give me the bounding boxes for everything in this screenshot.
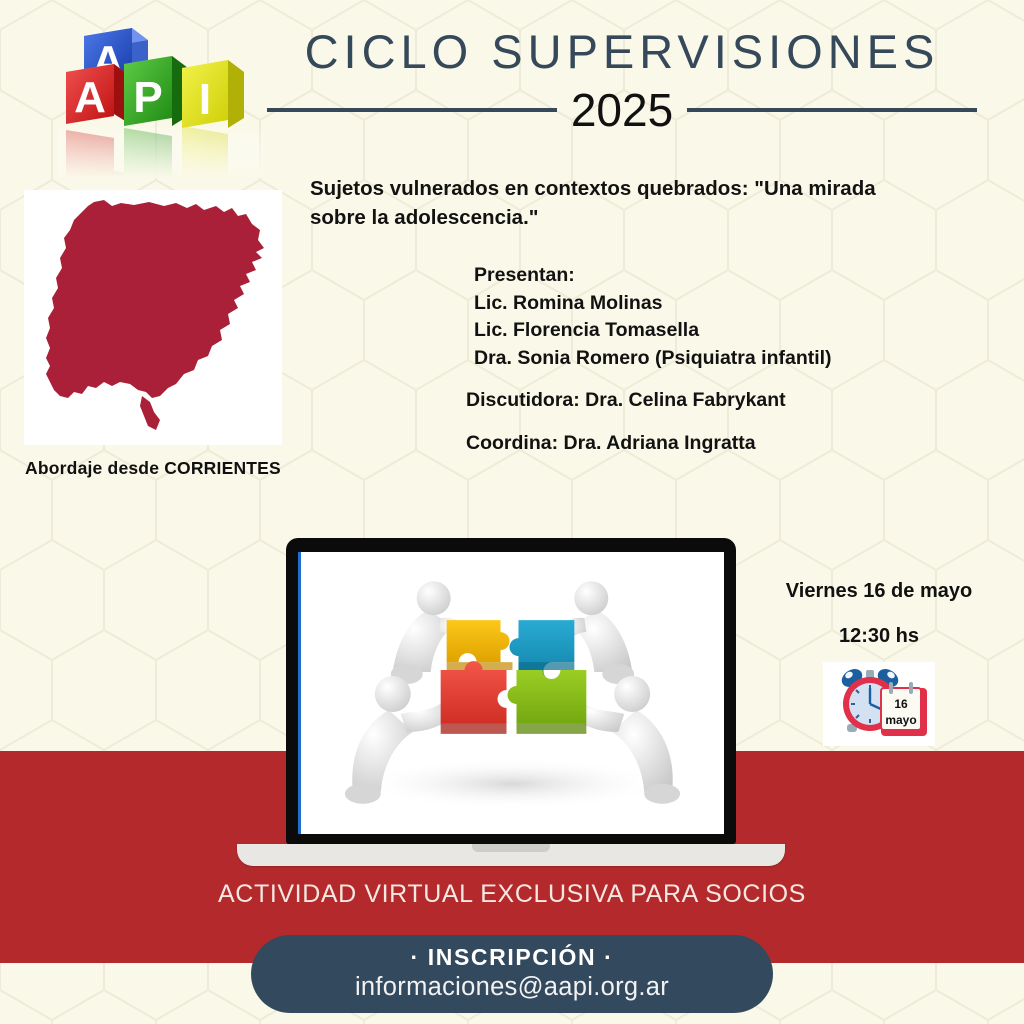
schedule-block: Viernes 16 de mayo 12:30 hs bbox=[744, 580, 1014, 746]
laptop-illustration bbox=[286, 538, 736, 866]
logo-cube-red: A bbox=[66, 64, 130, 124]
topic-title: Sujetos vulnerados en contextos quebrado… bbox=[310, 174, 910, 232]
map-caption: Abordaje desde CORRIENTES bbox=[24, 458, 282, 479]
credits-block: Presentan: Lic. Romina Molinas Lic. Flor… bbox=[466, 266, 986, 461]
map-frame bbox=[24, 190, 282, 445]
logo-cube-yellow: I bbox=[182, 60, 244, 128]
laptop-screen bbox=[298, 552, 724, 834]
teamwork-puzzle-image bbox=[301, 552, 724, 834]
presenters-label: Presentan: bbox=[466, 266, 986, 286]
title-year: 2025 bbox=[571, 87, 673, 133]
page-title: CICLO SUPERVISIONES bbox=[262, 28, 982, 75]
svg-text:A: A bbox=[74, 73, 106, 122]
calendar-month: mayo bbox=[885, 713, 916, 727]
title-rule-left bbox=[267, 108, 557, 112]
presenter-name: Dra. Sonia Romero (Psiquiatra infantil) bbox=[466, 349, 986, 369]
inscription-label: · INSCRIPCIÓN · bbox=[251, 944, 773, 971]
discussant-line: Discutidora: Dra. Celina Fabrykant bbox=[466, 391, 986, 411]
laptop-trackpad-notch bbox=[472, 844, 550, 852]
laptop-lid bbox=[286, 538, 736, 844]
coordinator-line: Coordina: Dra. Adriana Ingratta bbox=[466, 434, 986, 454]
logo-cube-green: P bbox=[124, 56, 188, 126]
event-time: 12:30 hs bbox=[744, 625, 1014, 648]
corrientes-province-map-icon bbox=[24, 190, 282, 445]
aapi-logo: A A P I bbox=[58, 18, 263, 178]
map-block: Abordaje desde CORRIENTES bbox=[24, 190, 282, 479]
title-rule-right bbox=[687, 108, 977, 112]
presenter-name: Lic. Romina Molinas bbox=[466, 294, 986, 314]
puzzle-piece-green bbox=[508, 670, 587, 734]
calendar-day: 16 bbox=[894, 697, 908, 711]
inscription-pill[interactable]: · INSCRIPCIÓN · informaciones@aapi.org.a… bbox=[251, 935, 773, 1013]
event-day: Viernes 16 de mayo bbox=[744, 580, 1014, 603]
svg-text:P: P bbox=[133, 73, 162, 122]
laptop-base bbox=[237, 844, 785, 866]
poster-header: CICLO SUPERVISIONES 2025 bbox=[262, 28, 982, 158]
virtual-activity-line: ACTIVIDAD VIRTUAL EXCLUSIVA PARA SOCIOS bbox=[0, 880, 1024, 909]
inscription-email[interactable]: informaciones@aapi.org.ar bbox=[251, 973, 773, 1002]
presenter-name: Lic. Florencia Tomasella bbox=[466, 321, 986, 341]
svg-text:I: I bbox=[199, 75, 211, 124]
alarm-clock-calendar-icon: 16 mayo bbox=[823, 662, 935, 746]
title-year-row: 2025 bbox=[262, 87, 982, 133]
puzzle-piece-red bbox=[441, 661, 507, 734]
